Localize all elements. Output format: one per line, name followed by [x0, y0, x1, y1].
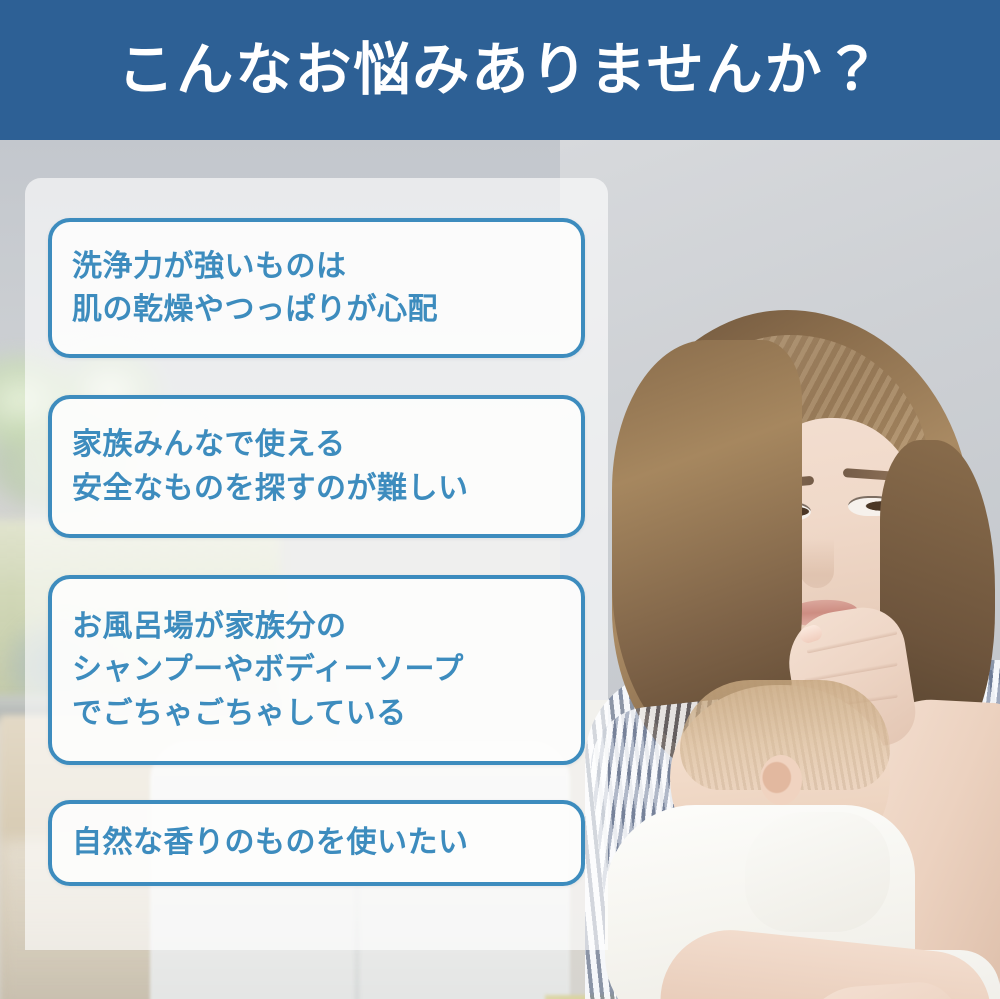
concern-card-3-text: お風呂場が家族分の シャンプーやボディーソープ でごちゃごちゃしている [52, 605, 464, 736]
photo-baby-ear [760, 755, 802, 805]
concern-card-1[interactable]: 洗浄力が強いものは 肌の乾燥やつっぱりが心配 [48, 218, 585, 358]
promo-banner-canvas: こんなお悩みありませんか？ 洗浄力が強いものは 肌の乾燥やつっぱりが心配 家族み… [0, 0, 1000, 999]
concern-card-2[interactable]: 家族みんなで使える 安全なものを探すのが難しい [48, 395, 585, 538]
concern-card-4-text: 自然な香りのものを使いたい [52, 821, 469, 865]
concern-card-4[interactable]: 自然な香りのものを使いたい [48, 800, 585, 886]
concern-card-1-text: 洗浄力が強いものは 肌の乾燥やつっぱりが心配 [52, 245, 438, 332]
concern-card-3[interactable]: お風呂場が家族分の シャンプーやボディーソープ でごちゃごちゃしている [48, 575, 585, 765]
photo-woman-nose [800, 538, 834, 588]
page-title: こんなお悩みありませんか？ [117, 42, 882, 99]
concern-card-2-text: 家族みんなで使える 安全なものを探すのが難しい [52, 423, 469, 510]
photo-baby-sleeve [745, 812, 890, 932]
header-banner: こんなお悩みありませんか？ [0, 0, 1000, 140]
